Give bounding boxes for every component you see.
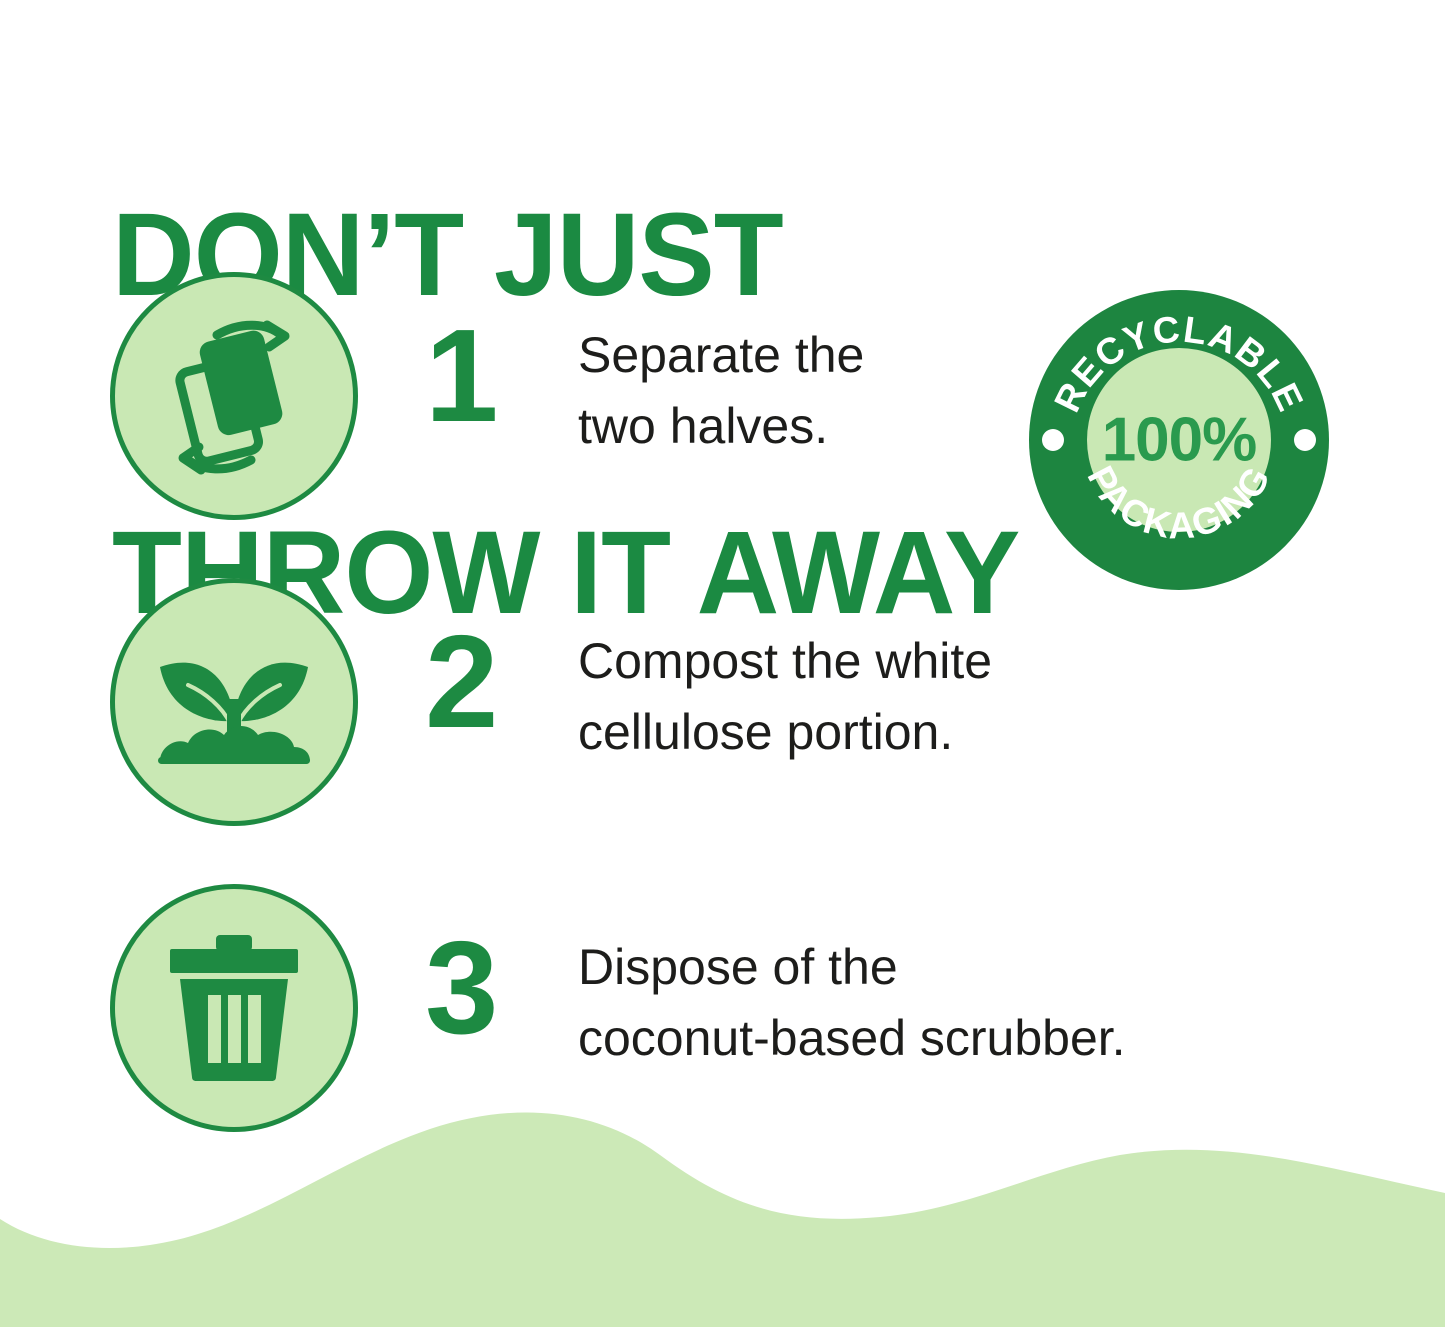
step-row: 2 Compost the white cellulose portion. (0, 578, 1445, 884)
badge-dot-left (1042, 429, 1064, 451)
step-number: 3 (425, 922, 535, 1054)
bottom-wave-decoration (0, 1097, 1445, 1327)
badge-center-text: 100% (1102, 406, 1257, 475)
step-text-line-1: Compost the white (578, 626, 1298, 697)
sprout-compost-icon (110, 578, 358, 826)
step-text: Compost the white cellulose portion. (578, 626, 1298, 768)
infographic-poster: DON’T JUST THROW IT AWAY 1 Sep (0, 0, 1445, 1327)
badge-dot-right (1294, 429, 1316, 451)
recyclable-packaging-badge: RECYCLABLE PACKAGING 100% (1029, 290, 1329, 590)
step-text: Dispose of the coconut-based scrubber. (578, 932, 1298, 1074)
step-text-line-1: Dispose of the (578, 932, 1298, 1003)
separate-halves-icon (110, 272, 358, 520)
step-number: 2 (425, 616, 535, 748)
step-text-line-2: coconut-based scrubber. (578, 1003, 1298, 1074)
trash-can-icon (110, 884, 358, 1132)
step-number: 1 (425, 310, 535, 442)
step-text-line-2: cellulose portion. (578, 697, 1298, 768)
